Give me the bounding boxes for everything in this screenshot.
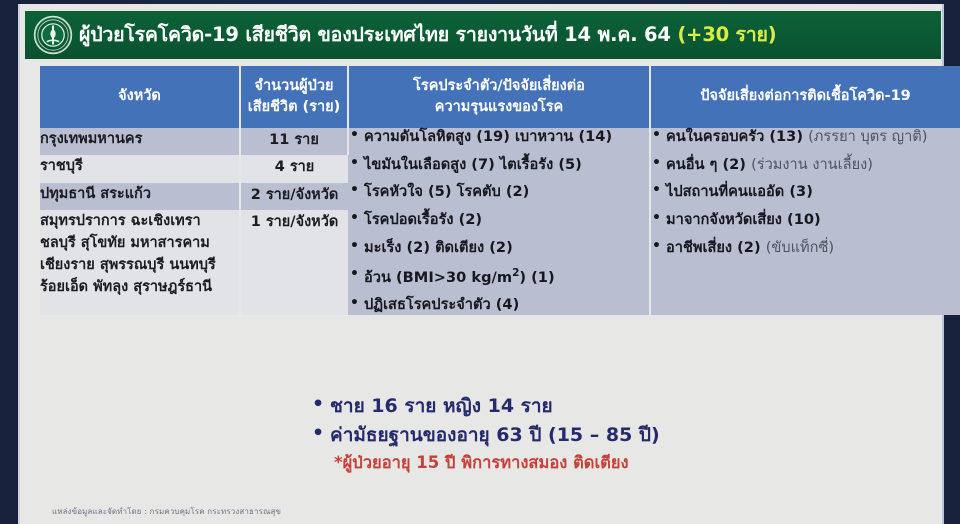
death-count-cell: 1 ราย/จังหวัด: [240, 210, 348, 315]
list-item: ความดันโลหิตสูง (19) เบาหวาน (14): [349, 128, 649, 146]
deaths-summary-table: จังหวัด จำนวนผู้ป่วย เสียชีวิต (ราย) โรค…: [40, 66, 960, 315]
column-header-exposure-risk: ปัจจัยเสี่ยงต่อการติดเชื้อโควิด-19: [650, 66, 960, 128]
list-item: ไขมันในเลือดสูง (7) ไตเรื้อรัง (5): [349, 156, 649, 174]
list-item-text: อ้วน (BMI>30 kg/m: [364, 269, 512, 286]
column-header-province: จังหวัด: [40, 66, 240, 128]
exposure-risk-list: คนในครอบครัว (13) (ภรรยา บุตร ญาติ) คนอื…: [651, 128, 960, 257]
list-item: อาชีพเสี่ยง (2) (ขับแท็กซี่): [651, 239, 960, 257]
column-header-comorbidity: โรคประจำตัว/ปัจจัยเสี่ยงต่อ ความรุนแรงขอ…: [348, 66, 650, 128]
list-item: มาจากจังหวัดเสี่ยง (10): [651, 211, 960, 229]
list-item: อ้วน (BMI>30 kg/m2) (1): [349, 267, 649, 287]
list-item: โรคปอดเรื้อรัง (2): [349, 211, 649, 229]
list-item-text: คนอื่น ๆ (2): [666, 156, 751, 173]
report-title-highlight: (+30 ราย): [677, 23, 776, 46]
report-header-bar: ผู้ป่วยโรคโควิด-19 เสียชีวิต ของประเทศไท…: [25, 11, 941, 59]
list-item: คนในครอบครัว (13) (ภรรยา บุตร ญาติ): [651, 128, 960, 146]
province-cell: ปทุมธานี สระแก้ว: [40, 183, 240, 210]
table-row: กรุงเทพมหานคร 11 ราย ความดันโลหิตสูง (19…: [40, 128, 960, 155]
report-title-main: ผู้ป่วยโรคโควิด-19 เสียชีวิต ของประเทศไท…: [79, 23, 671, 46]
column-header-death-count-line2: เสียชีวิต (ราย): [245, 97, 343, 118]
list-item-text: ไปสถานที่คนแออัด (3): [666, 183, 813, 200]
province-cell: กรุงเทพมหานคร: [40, 128, 240, 155]
province-line: เชียงราย สุพรรณบุรี นนทบุรี: [40, 254, 239, 276]
province-line: ร้อยเอ็ด พัทลุง สุราษฎร์ธานี: [40, 276, 239, 298]
table-header-row: จังหวัด จำนวนผู้ป่วย เสียชีวิต (ราย) โรค…: [40, 66, 960, 128]
summary-footnote: *ผู้ป่วยอายุ 15 ปี พิการทางสมอง ติดเตียง: [334, 452, 872, 473]
list-item: คนอื่น ๆ (2) (ร่วมงาน งานเลี้ยง): [651, 156, 960, 174]
comorbidity-list-cell: ความดันโลหิตสูง (19) เบาหวาน (14) ไขมันใ…: [348, 128, 650, 315]
death-count-cell: 4 ราย: [240, 155, 348, 182]
death-count-cell: 11 ราย: [240, 128, 348, 155]
province-cell-multiline: สมุทรปราการ ฉะเชิงเทรา ชลบุรี สุโขทัย มห…: [40, 210, 240, 315]
list-item-text: คนในครอบครัว (13): [666, 128, 808, 145]
column-header-comorbidity-line2: ความรุนแรงของโรค: [353, 97, 645, 118]
column-header-death-count: จำนวนผู้ป่วย เสียชีวิต (ราย): [240, 66, 348, 128]
report-title: ผู้ป่วยโรคโควิด-19 เสียชีวิต ของประเทศไท…: [79, 25, 776, 45]
source-footer: แหล่งข้อมูลและจัดทำโดย : กรมควบคุมโรค กร…: [52, 505, 281, 518]
slide-background: ผู้ป่วยโรคโควิด-19 เสียชีวิต ของประเทศไท…: [0, 0, 960, 524]
column-header-death-count-line1: จำนวนผู้ป่วย: [245, 76, 343, 97]
summary-gender-line: ชาย 16 ราย หญิง 14 ราย: [312, 392, 872, 421]
death-count-cell: 2 ราย/จังหวัด: [240, 183, 348, 210]
column-header-comorbidity-line1: โรคประจำตัว/ปัจจัยเสี่ยงต่อ: [353, 76, 645, 97]
list-item: ไปสถานที่คนแออัด (3): [651, 183, 960, 201]
report-page: ผู้ป่วยโรคโควิด-19 เสียชีวิต ของประเทศไท…: [18, 4, 944, 524]
list-item-note: (ภรรยา บุตร ญาติ): [808, 128, 927, 145]
list-item: ปฏิเสธโรคประจำตัว (4): [349, 296, 649, 314]
province-line: สมุทรปราการ ฉะเชิงเทรา: [40, 210, 239, 232]
comorbidity-list: ความดันโลหิตสูง (19) เบาหวาน (14) ไขมันใ…: [349, 128, 649, 315]
list-item-note: (ขับแท็กซี่): [766, 239, 834, 256]
list-item-text: มาจากจังหวัดเสี่ยง (10): [666, 211, 821, 228]
exposure-risk-list-cell: คนในครอบครัว (13) (ภรรยา บุตร ญาติ) คนอื…: [650, 128, 960, 315]
ministry-of-public-health-emblem-icon: [33, 15, 73, 55]
province-cell: ราชบุรี: [40, 155, 240, 182]
province-line: ชลบุรี สุโขทัย มหาสารคาม: [40, 232, 239, 254]
list-item-tail: ) (1): [519, 269, 554, 286]
summary-block: ชาย 16 ราย หญิง 14 ราย ค่ามัธยฐานของอายุ…: [312, 392, 872, 473]
list-item-note: (ร่วมงาน งานเลี้ยง): [751, 156, 873, 173]
list-item-text: อาชีพเสี่ยง (2): [666, 239, 766, 256]
list-item: โรคหัวใจ (5) โรคตับ (2): [349, 183, 649, 201]
list-item: มะเร็ง (2) ติดเตียง (2): [349, 239, 649, 257]
summary-age-line: ค่ามัธยฐานของอายุ 63 ปี (15 – 85 ปี): [312, 421, 872, 450]
